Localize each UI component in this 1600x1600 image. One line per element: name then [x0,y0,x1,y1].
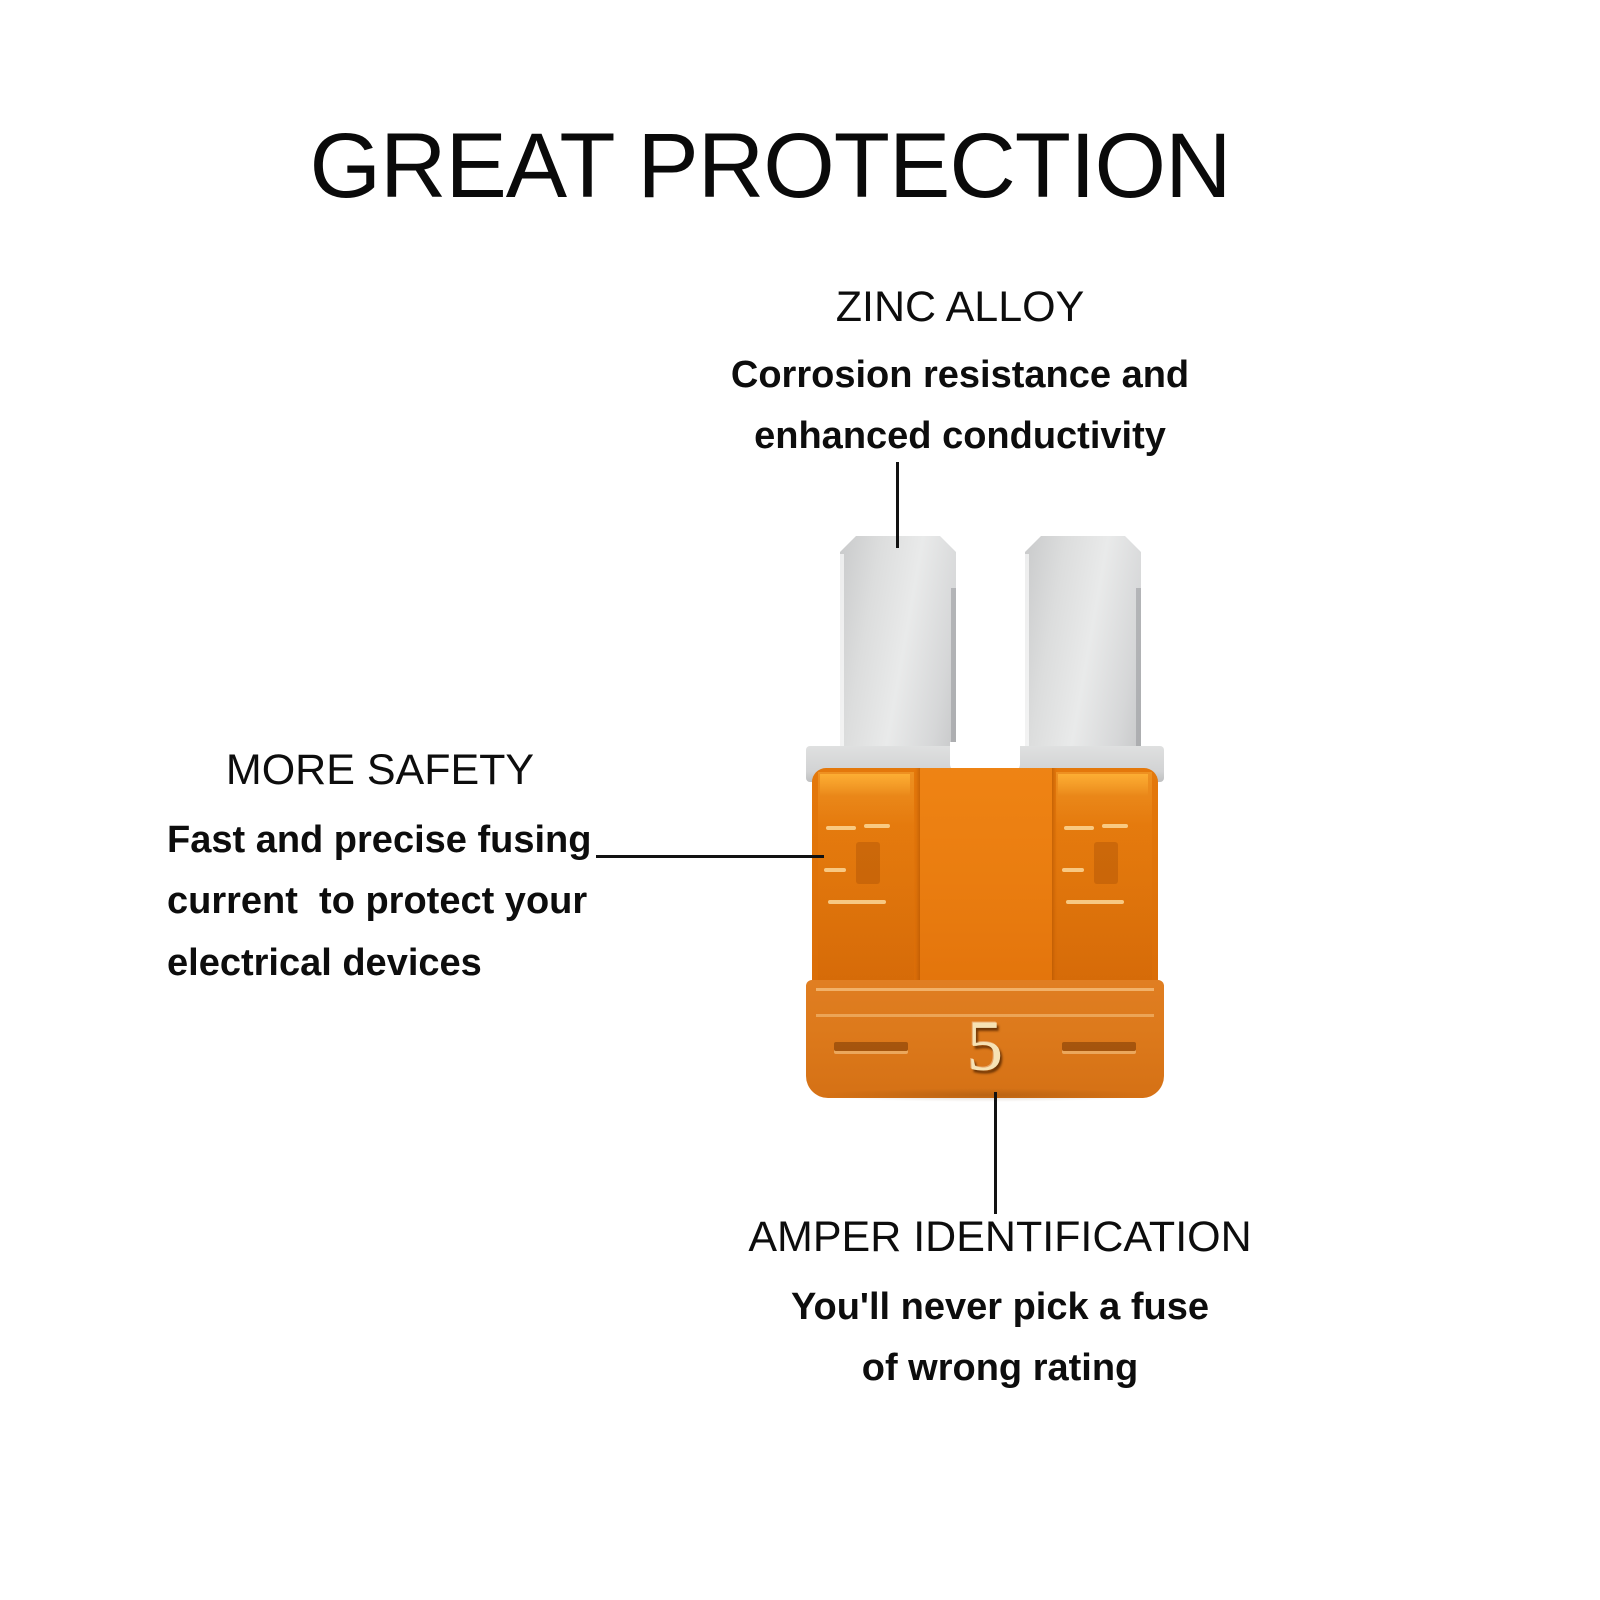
callout-body-line: You'll never pick a fuse [690,1277,1310,1339]
fuse-seam [816,988,1154,991]
infographic-canvas: GREAT PROTECTION [0,0,1600,1600]
fuse-housing [812,768,1158,998]
window-glint [864,824,890,828]
window-glint [828,900,886,904]
callout-body-amper-identification: You'll never pick a fuse of wrong rating [690,1277,1310,1400]
callout-body-more-safety: Fast and precise fusing current to prote… [120,810,640,995]
window-tint-right [1058,774,1148,796]
window-glint [1066,900,1124,904]
callout-body-line: Corrosion resistance and [700,345,1220,407]
window-glint [826,826,856,830]
callout-heading-zinc-alloy: ZINC ALLOY [700,282,1220,333]
callout-body-line: current to protect your [167,871,640,933]
amp-rating-marking: 5 [806,1010,1164,1082]
terminal-notch-right [1136,588,1141,758]
blade-fuse-illustration: 5 [800,528,1170,1100]
fuse-window-right [1056,772,1152,996]
callout-heading-more-safety: MORE SAFETY [120,745,640,796]
terminal-notch-left [951,588,956,758]
window-stud-left [856,842,880,884]
leader-line-amper-id [994,1092,997,1214]
page-title: GREAT PROTECTION [0,118,1540,215]
window-glint [1064,826,1094,830]
window-glint [1102,824,1128,828]
callout-body-line: electrical devices [167,933,640,995]
leader-line-zinc-alloy [896,462,899,548]
fuse-center-rib [920,768,1052,998]
window-tint-left [820,774,910,796]
callout-amper-identification: AMPER IDENTIFICATION You'll never pick a… [690,1212,1310,1400]
window-glint [824,868,846,872]
callout-heading-amper-identification: AMPER IDENTIFICATION [690,1212,1310,1263]
callout-body-line: Fast and precise fusing [167,810,640,872]
callout-body-zinc-alloy: Corrosion resistance and enhanced conduc… [700,345,1220,468]
fuse-contact-shadow [818,1088,1152,1102]
terminal-highlight-left [840,554,844,764]
window-glint [1062,868,1084,872]
callout-body-line: enhanced conductivity [700,406,1220,468]
callout-body-line: of wrong rating [690,1338,1310,1400]
window-stud-right [1094,842,1118,884]
terminal-highlight-right [1025,554,1029,764]
fuse-base: 5 [806,980,1164,1098]
callout-zinc-alloy: ZINC ALLOY Corrosion resistance and enha… [700,282,1220,468]
fuse-window-left [818,772,914,996]
callout-more-safety: MORE SAFETY Fast and precise fusing curr… [120,745,640,994]
